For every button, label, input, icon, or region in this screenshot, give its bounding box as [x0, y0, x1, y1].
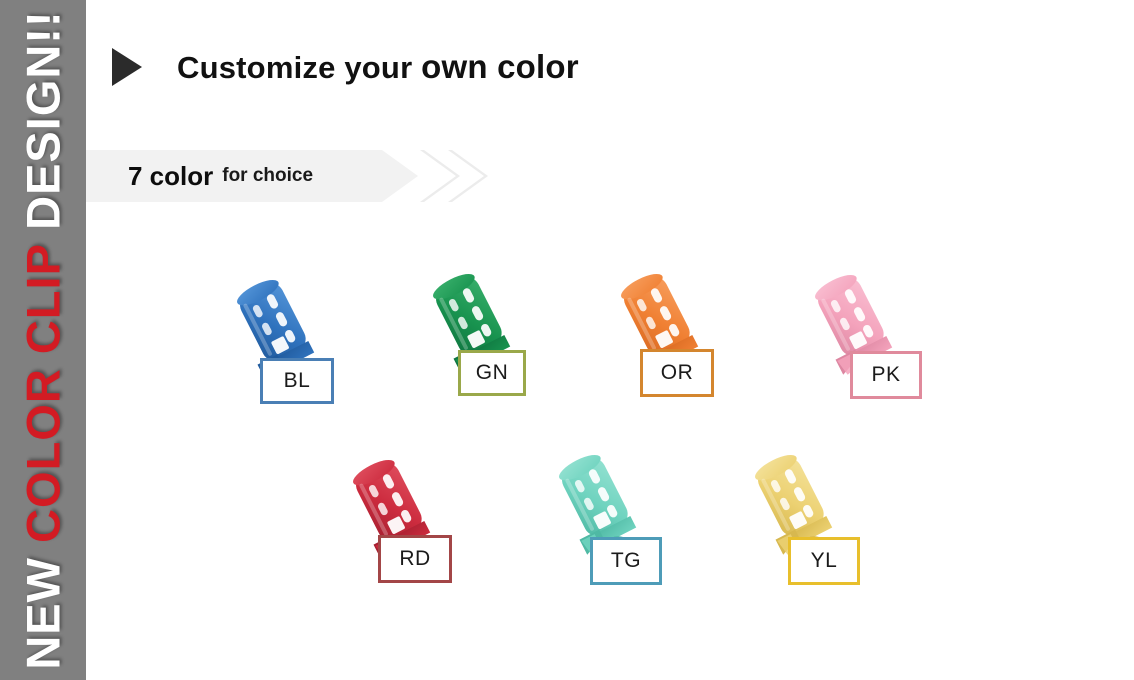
page-heading: Customize your own color: [112, 48, 579, 86]
chevron-right-icon-2: [448, 150, 488, 202]
page-title-part-2: own color: [421, 48, 579, 85]
color-option-yl[interactable]: YL: [730, 443, 910, 613]
color-option-rd[interactable]: RD: [328, 448, 508, 618]
color-code-label-rd[interactable]: RD: [378, 535, 452, 583]
page-title-part-1: Customize your: [177, 50, 421, 85]
color-option-or[interactable]: OR: [596, 262, 776, 432]
sidebar-title-segment-new: NEW: [17, 543, 70, 670]
color-code-label-tg[interactable]: TG: [590, 537, 662, 585]
play-triangle-icon: [112, 48, 142, 86]
color-code-label-yl[interactable]: YL: [788, 537, 860, 585]
color-option-tg[interactable]: TG: [534, 443, 714, 613]
color-count-banner: 7 color for choice: [86, 150, 466, 202]
sidebar-title-segment-colorclip: COLOR CLIP: [17, 230, 70, 543]
banner-text: 7 color for choice: [128, 150, 313, 202]
sidebar-banner: NEW COLOR CLIP DESIGN!!: [0, 0, 86, 680]
color-option-bl[interactable]: BL: [212, 268, 392, 438]
sidebar-title-segment-design: DESIGN!!: [17, 10, 70, 230]
color-option-gn[interactable]: GN: [408, 262, 588, 432]
color-code-label-gn[interactable]: GN: [458, 350, 526, 396]
color-code-label-pk[interactable]: PK: [850, 351, 922, 399]
banner-secondary-label: for choice: [222, 165, 313, 187]
page-title: Customize your own color: [177, 48, 579, 86]
color-code-label-bl[interactable]: BL: [260, 358, 334, 404]
banner-primary-label: 7 color: [128, 161, 213, 192]
chevron-right-icon-1: [420, 150, 460, 202]
color-code-label-or[interactable]: OR: [640, 349, 714, 397]
sidebar-title: NEW COLOR CLIP DESIGN!!: [20, 10, 67, 669]
color-option-pk[interactable]: PK: [790, 263, 970, 433]
